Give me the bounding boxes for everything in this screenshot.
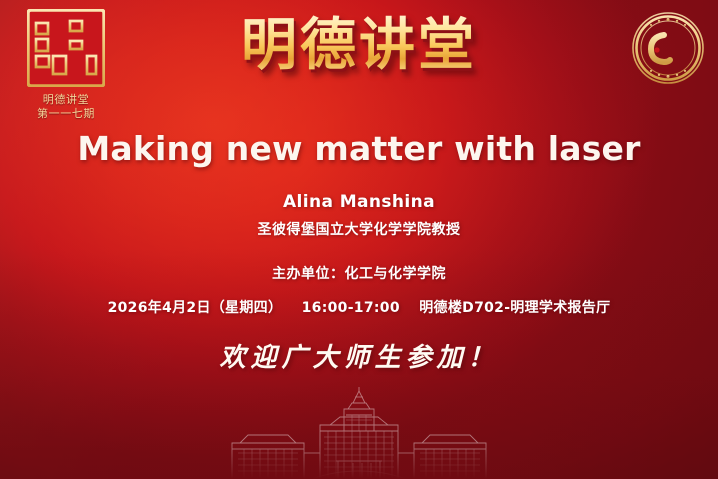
schedule-venue: 明德楼D702-明理学术报告厅 — [419, 300, 610, 316]
speaker-affiliation: 圣彼得堡国立大学化学学院教授 — [0, 220, 718, 240]
poster-headline: 明德讲堂 — [0, 14, 718, 78]
poster-content: Making new matter with laser Alina Mansh… — [0, 128, 718, 375]
seal-caption: 明德讲堂 第一一七期 — [13, 93, 119, 121]
schedule-line: 2026年4月2日（星期四） 16:00-17:00 明德楼D702-明理学术报… — [0, 298, 718, 318]
seal-caption-line1: 明德讲堂 — [13, 93, 119, 107]
schedule-date: 2026年4月2日（星期四） — [108, 300, 283, 316]
lecture-title-en: Making new matter with laser — [0, 128, 718, 170]
schedule-time: 16:00-17:00 — [302, 300, 400, 316]
welcome-message: 欢迎广大师生参加！ — [0, 341, 718, 375]
organizer-line: 主办单位：化工与化学学院 — [0, 264, 718, 284]
speaker-name: Alina Manshina — [0, 191, 718, 213]
lecture-poster: 明德讲堂 第一一七期 — [0, 0, 718, 479]
seal-caption-line2: 第一一七期 — [13, 107, 119, 121]
